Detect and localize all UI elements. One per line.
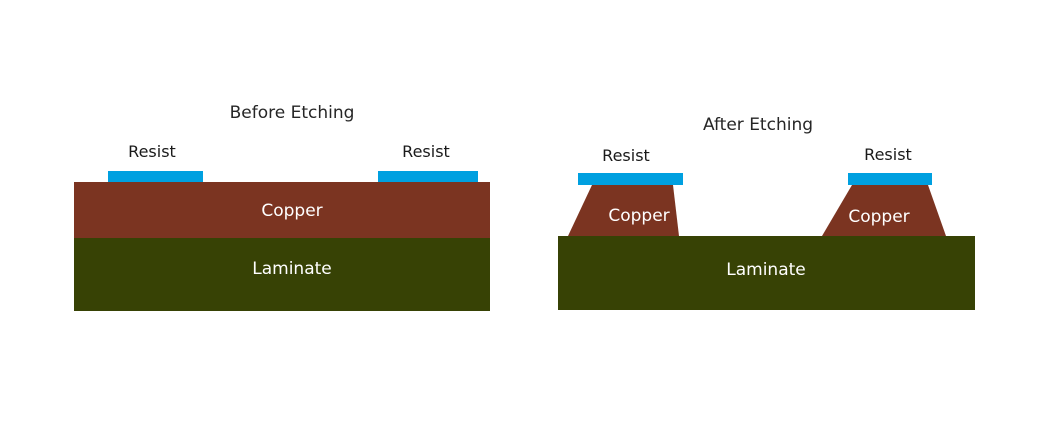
panel-title-after: After Etching <box>703 115 813 135</box>
after-laminate-label: Laminate <box>726 260 806 280</box>
after-resist-pad-left <box>578 173 683 185</box>
after-resist-pad-right <box>848 173 932 185</box>
before-resist-pad-right <box>378 171 478 182</box>
after-resist-label-left: Resist <box>602 146 650 165</box>
before-resist-label-left: Resist <box>128 142 176 161</box>
panel-before-etching: Before Etching Resist Resist Copper Lami… <box>74 103 490 311</box>
before-copper-label: Copper <box>261 201 322 221</box>
before-resist-label-right: Resist <box>402 142 450 161</box>
after-copper-label-left: Copper <box>608 206 669 226</box>
diagram-canvas: Before Etching Resist Resist Copper Lami… <box>0 0 1039 425</box>
etching-process-diagram: Before Etching Resist Resist Copper Lami… <box>0 0 1039 425</box>
before-laminate-label: Laminate <box>252 259 332 279</box>
before-resist-pad-left <box>108 171 203 182</box>
panel-after-etching: After Etching Resist Resist Copper Coppe… <box>558 115 975 310</box>
after-resist-label-right: Resist <box>864 145 912 164</box>
after-copper-label-right: Copper <box>848 207 909 227</box>
panel-title-before: Before Etching <box>230 103 355 123</box>
